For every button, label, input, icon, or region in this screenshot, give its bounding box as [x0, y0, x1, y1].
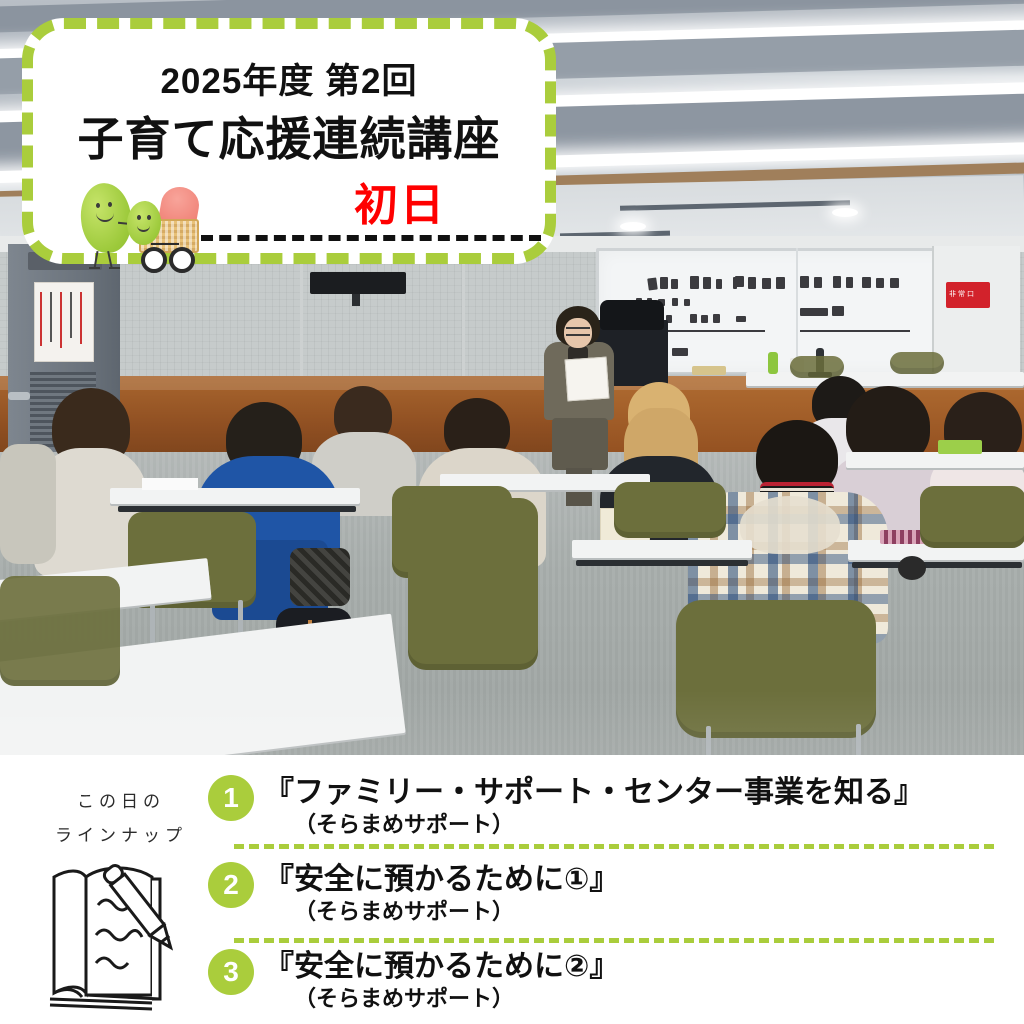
speaker-handout — [565, 357, 610, 402]
whiteboard-writing — [748, 277, 756, 289]
lineup-number-badge: 1 — [208, 775, 254, 821]
whiteboard-writing — [846, 277, 853, 288]
exit-sign: 非常口 — [946, 282, 990, 308]
whiteboard-underline — [800, 330, 910, 332]
table — [746, 372, 1024, 386]
notice-text — [60, 292, 62, 348]
lineup-item-title: 『安全に預かるために①』 — [264, 854, 619, 898]
whiteboard-writing — [671, 279, 678, 289]
whiteboard-writing — [672, 298, 678, 306]
lineup-item-title: 『ファミリー・サポート・センター事業を知る』 — [264, 767, 924, 811]
stroller-wheel-icon — [169, 247, 195, 273]
whiteboard-eraser — [692, 366, 726, 375]
camera-lens — [898, 556, 926, 580]
bean-eye — [108, 202, 112, 207]
soramame-mascot-icon — [65, 177, 195, 269]
whiteboard-writing — [701, 315, 708, 323]
whiteboard-writing — [672, 348, 688, 356]
door-notice-paper — [34, 282, 94, 362]
notebook-pencil-icon — [40, 853, 180, 1013]
whiteboard-writing — [713, 314, 720, 323]
lineup-label-line1: この日の — [46, 785, 196, 819]
right-door — [932, 246, 1020, 382]
handout-paper — [142, 478, 198, 490]
bean-child-eye — [137, 215, 141, 220]
whiteboard-writing — [703, 277, 711, 289]
downlight — [832, 208, 858, 217]
notice-text — [40, 292, 42, 346]
lineup-footer: この日の ラインナップ — [0, 755, 1024, 1024]
stroller-axle — [151, 243, 179, 245]
lineup-item[interactable]: 1 『ファミリー・サポート・センター事業を知る』 （そらまめサポート） — [208, 761, 1008, 848]
whiteboard-writing — [684, 299, 690, 306]
ceiling-monitor — [310, 272, 406, 294]
whiteboard-writing — [833, 276, 841, 288]
hoodie-hood — [740, 496, 840, 554]
bean-foot — [89, 267, 100, 269]
lineup-item-presenter: （そらまめサポート） — [294, 981, 514, 1013]
speaker-skirt — [552, 418, 608, 470]
chair — [790, 356, 844, 378]
whiteboard-writing — [762, 278, 771, 289]
chair — [614, 482, 726, 538]
black-bag — [600, 300, 664, 330]
table-frame — [576, 560, 748, 566]
lineup-label-line2: ラインナップ — [46, 819, 196, 853]
lineup-number-badge: 2 — [208, 862, 254, 908]
notice-text — [70, 292, 72, 338]
whiteboard-writing — [814, 277, 822, 288]
lineup-item[interactable]: 3 『安全に預かるために②』 （そらまめサポート） — [208, 935, 1008, 1022]
card-dashed-rule — [201, 235, 541, 241]
bean-foot — [109, 267, 120, 269]
lineup-rows: 1 『ファミリー・サポート・センター事業を知る』 （そらまめサポート） 2 『安… — [208, 761, 1008, 1022]
bean-child-eye — [147, 215, 151, 220]
title-card-inner: 2025年度 第2回 子育て応援連続講座 初日 — [33, 29, 545, 253]
bean-eye — [96, 203, 100, 208]
exit-sign-label: 非常口 — [949, 289, 976, 299]
whiteboard-writing — [862, 277, 871, 288]
title-card: 2025年度 第2回 子育て応援連続講座 初日 — [22, 18, 556, 264]
table — [846, 452, 1024, 468]
whiteboard-writing — [660, 277, 668, 289]
card-subtitle: 2025年度 第2回 — [33, 53, 545, 104]
bottle — [768, 352, 778, 374]
whiteboard-writing — [800, 308, 828, 316]
whiteboard-writing — [735, 276, 744, 287]
lineup-label: この日の ラインナップ — [46, 785, 196, 853]
plaid-bag — [290, 548, 350, 606]
whiteboard-writing — [890, 278, 899, 288]
participant-body — [0, 444, 56, 564]
card-title: 子育て応援連続講座 — [33, 103, 545, 169]
whiteboard-writing — [832, 306, 844, 316]
green-folder — [938, 440, 982, 454]
whiteboard-writing — [690, 314, 697, 323]
table — [110, 488, 360, 504]
lineup-item-presenter: （そらまめサポート） — [294, 894, 514, 926]
chair — [408, 498, 538, 670]
card-day-badge: 初日 — [295, 169, 505, 233]
stroller-wheel-icon — [141, 247, 167, 273]
lineup-item-title: 『安全に預かるために②』 — [264, 941, 619, 985]
whiteboard-writing — [716, 279, 722, 289]
whiteboard-writing — [690, 276, 699, 289]
whiteboard-writing — [800, 276, 809, 288]
chair — [920, 486, 1024, 548]
door-handle — [8, 392, 30, 400]
lineup-number-badge: 3 — [208, 949, 254, 995]
whiteboard-writing — [647, 277, 658, 290]
whiteboard-writing — [876, 278, 884, 288]
poster-root: 非常口 — [0, 0, 1024, 1024]
table-frame — [852, 562, 1022, 568]
chair — [890, 352, 944, 374]
speaker-glasses — [566, 327, 590, 336]
table — [572, 540, 752, 558]
photo-bottom-fade — [0, 690, 1024, 755]
whiteboard-writing — [776, 277, 785, 289]
whiteboard-writing — [736, 316, 746, 322]
monitor-mount — [352, 294, 360, 306]
notice-text — [50, 292, 52, 342]
notice-text — [80, 292, 82, 344]
lineup-item-presenter: （そらまめサポート） — [294, 807, 514, 839]
chair — [0, 576, 120, 686]
downlight — [620, 222, 646, 231]
lineup-item[interactable]: 2 『安全に預かるために①』 （そらまめサポート） — [208, 848, 1008, 935]
